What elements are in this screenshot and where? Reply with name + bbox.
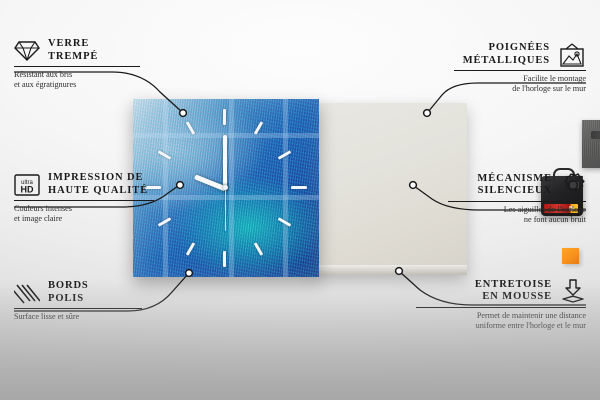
callout-sub-line: de l'horloge sur le mur — [454, 84, 586, 94]
callout-head: POIGNÉES MÉTALLIQUES — [454, 42, 586, 67]
polished-edges-icon — [14, 282, 40, 304]
callout-bords-polis: BORDS POLIS Surface lisse et sûre — [14, 280, 142, 322]
clock-back-panel — [312, 103, 467, 275]
callout-rule — [14, 200, 154, 201]
callout-title-line: BORDS — [48, 280, 89, 293]
callout-sub-line: Les aiguilles de l'horloge — [448, 205, 586, 215]
callout-rule — [448, 201, 586, 202]
callout-entretoise-en-mousse: ENTRETOISE EN MOUSSE Permet de maintenir… — [416, 278, 586, 331]
callout-rule — [416, 307, 586, 308]
clock-hub — [223, 185, 228, 190]
callout-title-line: IMPRESSION DE — [48, 172, 148, 185]
callout-sub-line: Couleurs intenses — [14, 204, 154, 214]
callout-sub-line: Résistant aux bris — [14, 70, 140, 80]
hour-tick — [291, 186, 307, 189]
callout-sub-line: et aux égratignures — [14, 80, 140, 90]
picture-hanger-icon — [558, 43, 586, 67]
callout-title-line: HAUTE QUALITÉ — [48, 185, 148, 198]
callout-verre-trempe: VERRE TREMPÉ Résistant aux bris et aux é… — [14, 38, 140, 90]
callout-title-line: VERRE — [48, 38, 98, 51]
callout-head: BORDS POLIS — [14, 280, 142, 305]
callout-title-line: POIGNÉES — [463, 42, 550, 55]
callout-head: ultra HD IMPRESSION DE HAUTE QUALITÉ — [14, 172, 154, 197]
second-hand — [225, 187, 227, 231]
hanger-keyhole-slot — [591, 131, 600, 139]
callout-sub-line: uniforme entre l'horloge et le mur — [416, 321, 586, 331]
callout-sub-line: ne font aucun bruit — [448, 215, 586, 225]
callout-title-line: ENTRETOISE — [475, 279, 552, 292]
infographic-canvas: VERRE TREMPÉ Résistant aux bris et aux é… — [0, 0, 600, 400]
hour-tick — [223, 251, 226, 267]
svg-text:HD: HD — [21, 184, 34, 194]
product-image — [133, 99, 467, 281]
callout-title-line: MÉCANISME — [477, 173, 552, 186]
callout-title-line: TREMPÉ — [48, 51, 98, 64]
metal-hanger-plate — [582, 120, 600, 168]
callout-head: VERRE TREMPÉ — [14, 38, 140, 63]
callout-title-line: EN MOUSSE — [475, 291, 552, 304]
callout-rule — [14, 66, 140, 67]
gear-icon — [560, 172, 586, 198]
callout-sub-line: Facilite le montage — [454, 74, 586, 84]
callout-rule — [454, 70, 586, 71]
callout-sub-line: Surface lisse et sûre — [14, 312, 142, 322]
callout-poignees-metalliques: POIGNÉES MÉTALLIQUES Facilite le montage… — [454, 42, 586, 94]
ultra-hd-icon: ultra HD — [14, 173, 40, 197]
callout-rule — [14, 308, 142, 309]
tempered-glass-clock-face — [133, 99, 319, 277]
callout-head: MÉCANISME SILENCIEUX — [448, 172, 586, 198]
minute-hand — [223, 135, 227, 189]
callout-impression-haute-qualite: ultra HD IMPRESSION DE HAUTE QUALITÉ Cou… — [14, 172, 154, 224]
diamond-icon — [14, 40, 40, 62]
callout-title-line: SILENCIEUX — [477, 185, 552, 198]
foam-spacer — [562, 248, 579, 264]
callout-sub-line: Permet de maintenir une distance — [416, 311, 586, 321]
hour-tick — [223, 109, 226, 125]
callout-sub-line: et image claire — [14, 214, 154, 224]
callout-head: ENTRETOISE EN MOUSSE — [416, 278, 586, 304]
callout-title-line: MÉTALLIQUES — [463, 55, 550, 68]
foam-spacer-icon — [560, 278, 586, 304]
callout-title-line: POLIS — [48, 293, 89, 306]
callout-mecanisme-silencieux: MÉCANISME SILENCIEUX Les aiguilles de l'… — [448, 172, 586, 225]
